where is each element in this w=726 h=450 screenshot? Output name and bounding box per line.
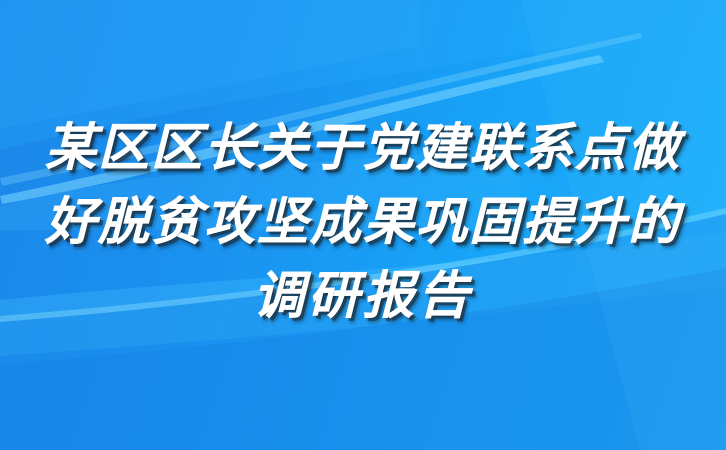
title-line-1: 某区区长关于党建联系点做	[0, 112, 726, 186]
title-line-3: 调研报告	[0, 260, 726, 334]
title-line-2: 好脱贫攻坚成果巩固提升的	[0, 186, 726, 260]
title-banner: 某区区长关于党建联系点做 好脱贫攻坚成果巩固提升的 调研报告	[0, 0, 726, 450]
banner-title: 某区区长关于党建联系点做 好脱贫攻坚成果巩固提升的 调研报告	[0, 112, 726, 334]
